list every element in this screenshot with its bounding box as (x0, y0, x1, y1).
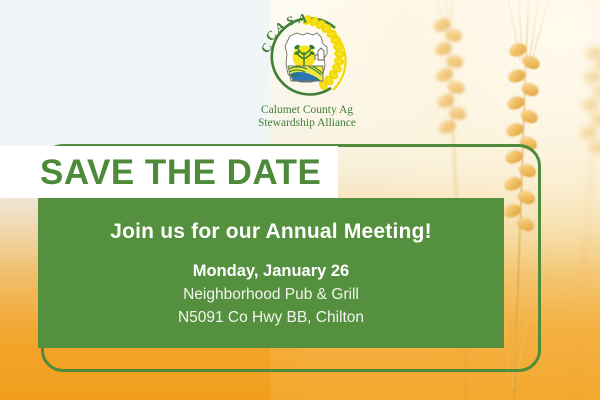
save-the-date-band: SAVE THE DATE (0, 146, 338, 198)
save-the-date-poster: SAVE THE DATE Join us for our Annual Mee… (0, 0, 600, 400)
details-panel (38, 198, 504, 348)
ccasa-logo-text: Calumet County Ag Stewardship Alliance (243, 104, 371, 130)
ccasa-logo: C C A S A (243, 14, 371, 134)
save-the-date-label: SAVE THE DATE (40, 155, 321, 190)
logo-name-line2: Stewardship Alliance (243, 117, 371, 130)
svg-text:A: A (297, 14, 308, 26)
ccasa-logo-mark: C C A S A (257, 14, 357, 102)
logo-name-line1: Calumet County Ag (243, 104, 371, 117)
